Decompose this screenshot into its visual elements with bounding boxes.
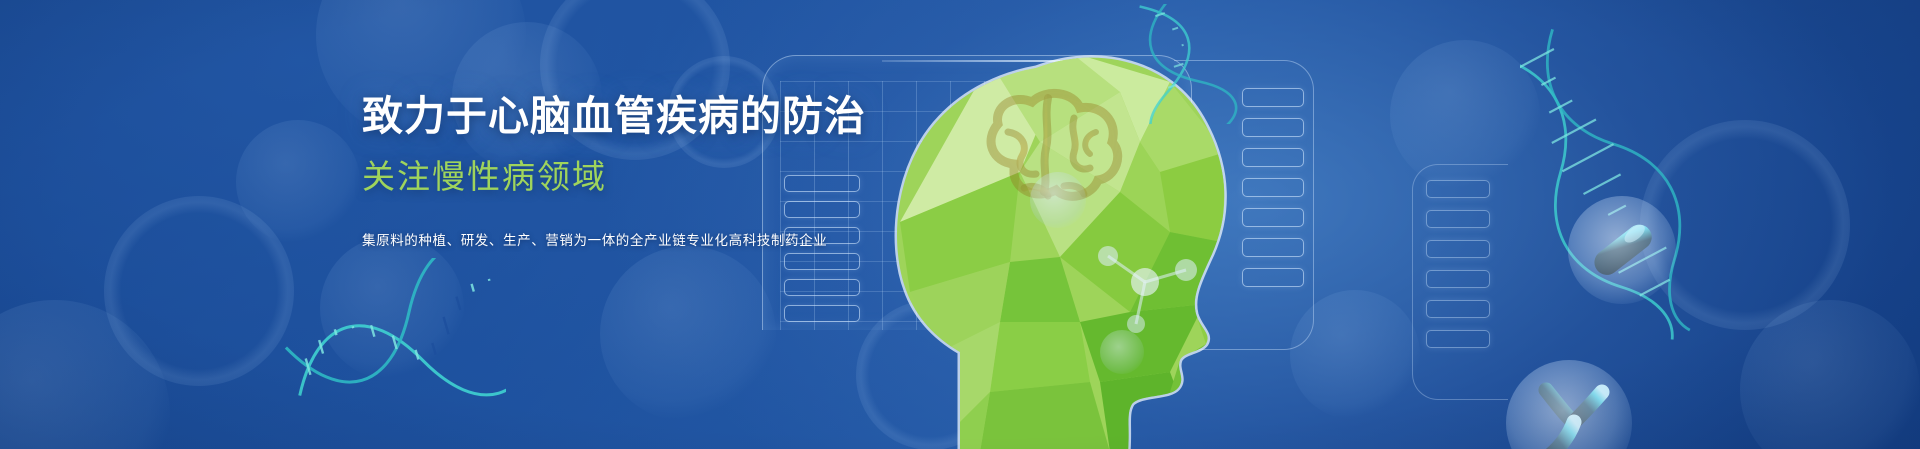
bokeh-circle [0, 300, 170, 449]
hud-bar [1426, 330, 1490, 348]
bokeh-circle [600, 246, 776, 422]
bacterium-rod [1568, 196, 1676, 304]
cell-halo [1568, 196, 1676, 304]
page-subtitle: 关注慢性病领域 [362, 150, 982, 198]
page-tagline: 集原料的种植、研发、生产、营销为一体的全产业链专业化高科技制药企业 [362, 229, 982, 249]
hud-bar-list [1426, 180, 1490, 360]
hud-bar [1426, 180, 1490, 198]
hud-panel-far-right [1412, 164, 1508, 400]
dna-helix-icon [1108, 4, 1238, 124]
hud-bar [1426, 240, 1490, 258]
banner-text-block: 致力于心脑血管疾病的防治 关注慢性病领域 集原料的种植、研发、生产、营销为一体的… [362, 92, 982, 249]
bokeh-circle [104, 196, 294, 386]
bokeh-circle [1390, 40, 1540, 190]
hud-bar [1426, 300, 1490, 318]
bokeh-circle [236, 120, 360, 244]
glow-cell [1100, 330, 1144, 374]
hud-frame [1412, 164, 1508, 400]
glow-cell [1030, 172, 1086, 228]
hud-bar [1426, 210, 1490, 228]
molecule-icon [1090, 230, 1200, 335]
dna-helix-icon [276, 258, 506, 408]
hero-banner: 致力于心脑血管疾病的防治 关注慢性病领域 集原料的种植、研发、生产、营销为一体的… [0, 0, 1920, 449]
bacterium-y-shape [1506, 360, 1632, 449]
page-title: 致力于心脑血管疾病的防治 [362, 92, 982, 140]
bokeh-circle [1740, 300, 1920, 449]
hud-bar [1426, 270, 1490, 288]
